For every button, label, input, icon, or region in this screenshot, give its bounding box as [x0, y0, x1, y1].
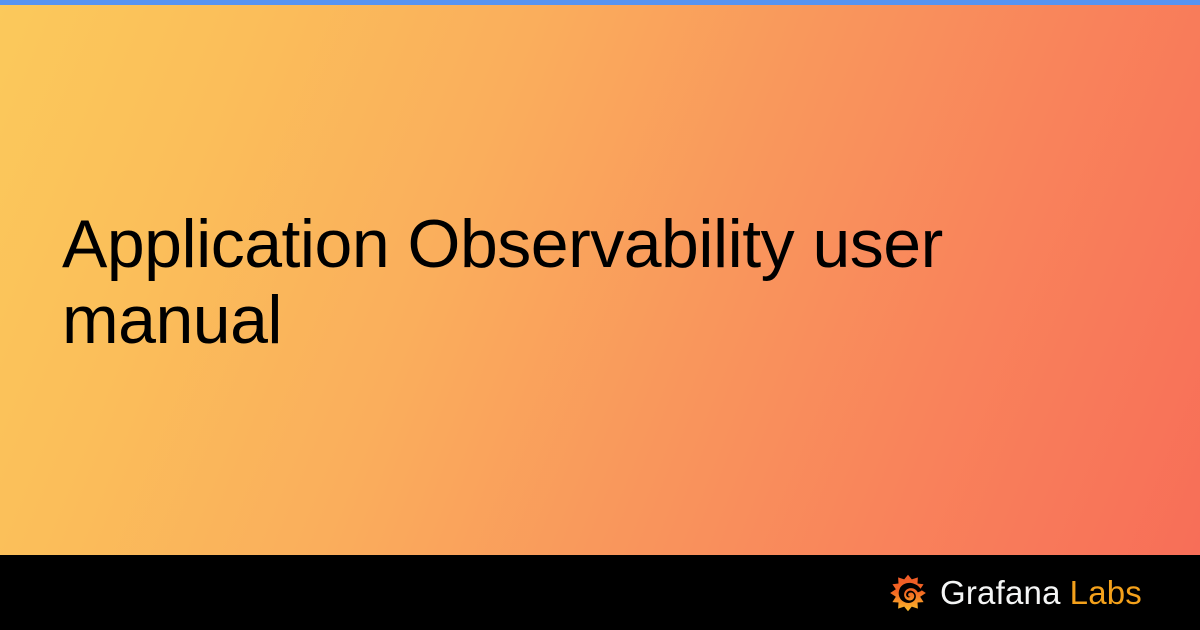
- grafana-labs-logo: GrafanaLabs: [889, 574, 1142, 612]
- hero-content: Application Observability user manual: [62, 0, 962, 555]
- grafana-spiral-sun-icon: [889, 574, 927, 612]
- top-accent-rule: [0, 0, 1200, 5]
- hero-gradient-panel: Application Observability user manual: [0, 0, 1200, 555]
- page-title: Application Observability user manual: [62, 206, 952, 358]
- social-share-card: Application Observability user manual: [0, 0, 1200, 630]
- brand-name-labs: Labs: [1070, 574, 1142, 611]
- footer-bar: GrafanaLabs: [0, 555, 1200, 630]
- brand-wordmark: GrafanaLabs: [940, 576, 1142, 610]
- brand-name-grafana: Grafana: [940, 574, 1061, 611]
